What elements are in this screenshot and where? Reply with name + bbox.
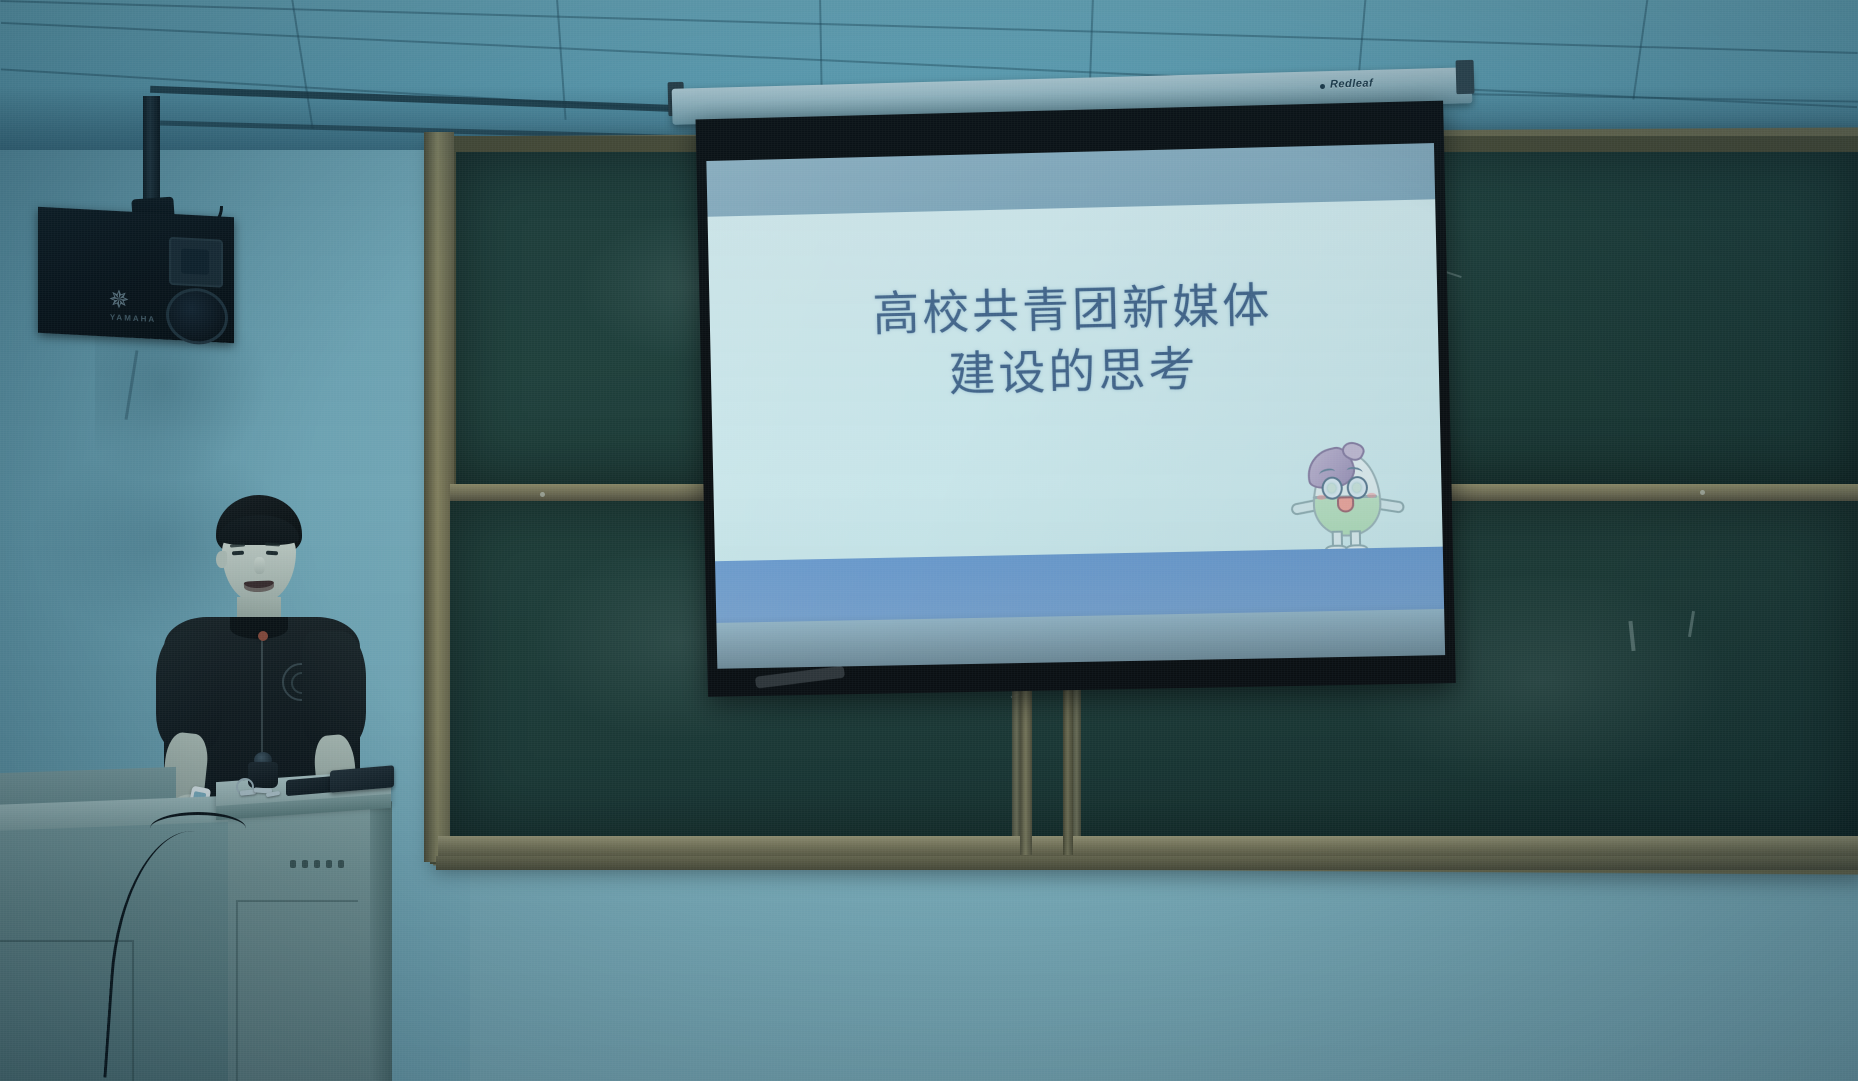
chalk-tray bbox=[438, 836, 1858, 858]
yamaha-tuning-fork-icon: ✵ bbox=[106, 286, 132, 313]
chalk-tray-lower bbox=[436, 856, 1858, 870]
classroom-photo-scene: ✵ YAMAHA Redleaf bbox=[0, 0, 1858, 1081]
slide-title: 高校共青团新媒体 建设的思考 bbox=[709, 272, 1439, 412]
presenter-ear bbox=[216, 551, 227, 568]
lapel-microphone-icon bbox=[258, 631, 268, 641]
screen-roller-end-right bbox=[1456, 60, 1475, 94]
slide-title-line-1: 高校共青团新媒体 bbox=[872, 278, 1273, 342]
screen-brand-label: Redleaf bbox=[1330, 77, 1374, 90]
lectern-side bbox=[370, 799, 392, 1081]
keys-on-desk[interactable] bbox=[240, 786, 282, 801]
screen-brand-dot-icon bbox=[1320, 84, 1325, 89]
presentation-slide: 高校共青团新媒体 建设的思考 bbox=[706, 143, 1445, 669]
cartoon-egg-mascot-icon bbox=[1289, 437, 1402, 552]
speaker-tweeter-inner bbox=[181, 248, 209, 275]
projection-canvas: 高校共青团新媒体 建设的思考 bbox=[706, 143, 1445, 669]
presenter-eye-right bbox=[266, 551, 278, 556]
projection-screen[interactable]: 高校共青团新媒体 建设的思考 bbox=[696, 101, 1456, 697]
presenter-sleeve-right bbox=[302, 631, 366, 747]
presenter-sleeve-left bbox=[156, 631, 222, 749]
presenter-eye-left bbox=[232, 551, 244, 556]
speaker-tweeter bbox=[169, 237, 223, 288]
screen-support-arm-right bbox=[1063, 690, 1073, 855]
lectern-front-panel bbox=[236, 900, 358, 1081]
screen-fold-crease bbox=[755, 666, 845, 689]
presenter-nose bbox=[254, 557, 265, 574]
screen-support-arm-left bbox=[1020, 690, 1032, 855]
lectern-vents bbox=[290, 860, 346, 868]
wall-speaker: ✵ YAMAHA bbox=[38, 207, 234, 344]
